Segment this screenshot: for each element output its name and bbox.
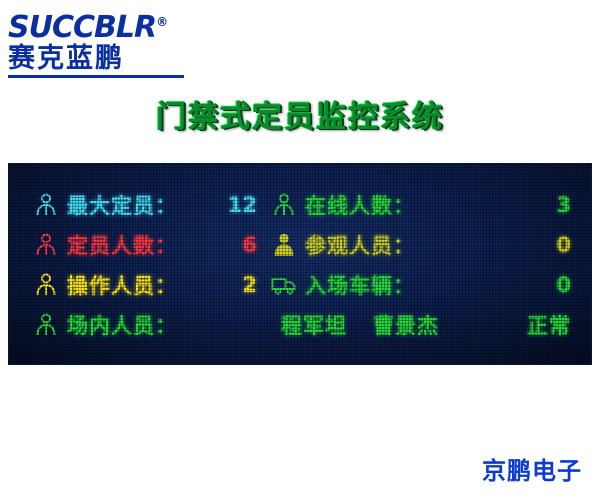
list-item: 程军坦 (281, 310, 347, 340)
led-content-grid: 最大定员： 12 在线人数： 3 定员人数： 6 (9, 186, 592, 344)
operator-count-value: 2 (217, 273, 271, 297)
person-icon (271, 232, 297, 258)
people-inside-label: 场内人员： (67, 310, 217, 340)
max-capacity-value: 12 (217, 193, 271, 217)
vehicles-entered-value: 0 (455, 273, 592, 297)
vehicles-entered-label: 入场车辆： (305, 270, 455, 300)
people-inside-name-list: 程军坦 曹景杰 正常 (271, 310, 592, 340)
truck-icon (271, 272, 297, 298)
person-icon (271, 192, 297, 218)
logo-latin-label: SUCCBLR (8, 10, 156, 45)
online-count-label: 在线人数： (305, 190, 455, 220)
footer-brand-label: 京鹏电子 (482, 451, 582, 486)
logo-latin-text: SUCCBLR® (8, 6, 208, 44)
person-icon (33, 192, 59, 218)
list-item: 曹景杰 (373, 310, 439, 340)
quota-count-label: 定员人数： (67, 230, 217, 260)
online-count-value: 3 (455, 193, 592, 217)
logo-chinese-label: 赛克蓝鹏 (8, 44, 208, 74)
person-icon (33, 272, 59, 298)
visitor-count-value: 0 (455, 233, 592, 257)
company-logo: SUCCBLR® 赛克蓝鹏 (8, 6, 208, 72)
max-capacity-label: 最大定员： (67, 190, 217, 220)
person-icon (33, 312, 59, 338)
page-title: 门禁式定员监控系统 (0, 92, 600, 136)
led-display-panel: 最大定员： 12 在线人数： 3 定员人数： 6 (8, 163, 592, 365)
visitor-count-label: 参观人员： (305, 230, 455, 260)
status-badge: 正常 (527, 310, 571, 340)
person-icon (33, 232, 59, 258)
operator-count-label: 操作人员： (67, 270, 217, 300)
quota-count-value: 6 (217, 233, 271, 257)
logo-underline-divider (8, 75, 184, 78)
registered-trademark-icon: ® (156, 15, 168, 29)
